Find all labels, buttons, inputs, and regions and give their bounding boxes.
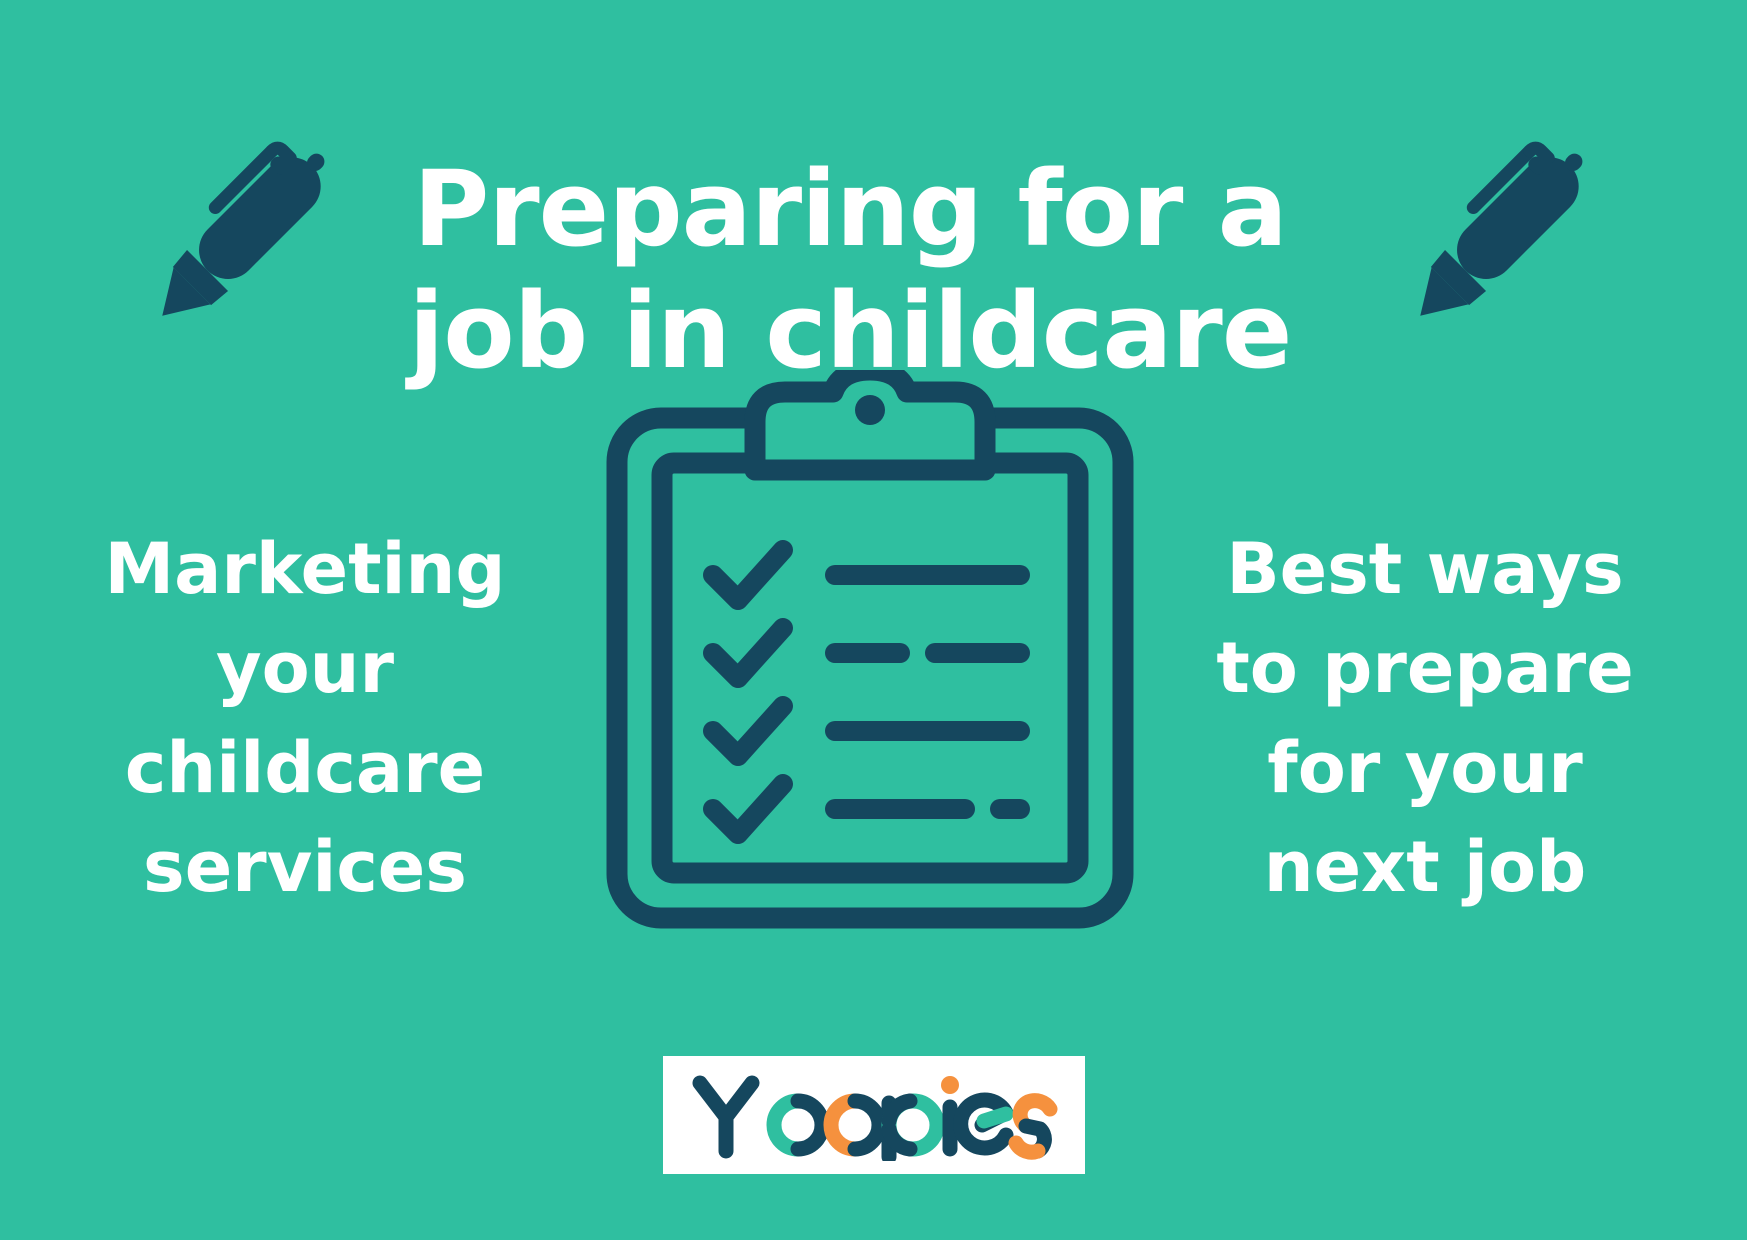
logo-letter-s [1016,1101,1050,1152]
caption-left: Marketing your childcare services [70,520,540,918]
caption-left-line-1: Marketing [70,520,540,619]
check-icon-1 [713,550,783,600]
check-icon-3 [713,706,783,756]
clipboard-clip-hole [855,395,885,425]
clipboard-outer-frame [617,418,1123,918]
caption-right-line-3: for your [1190,719,1660,818]
pen-icon-left [120,108,370,363]
title-line-1: Preparing for a [380,148,1320,271]
clipboard-clip [755,370,985,470]
clipboard-checklist-icon [605,370,1135,935]
caption-left-line-2: your [70,619,540,718]
check-icon-4 [713,784,783,834]
pen-icon-right [1378,108,1628,363]
logo-letter-o-2 [831,1101,879,1149]
poster-canvas: Preparing for a job in childcare Marketi… [0,0,1747,1240]
logo-letter-p [889,1101,937,1157]
yoopies-logo: Yoopies [663,1056,1085,1174]
logo-letter-e [961,1100,1006,1148]
caption-right-line-1: Best ways [1190,520,1660,619]
logo-letter-o-1 [774,1101,822,1149]
caption-right-line-4: next job [1190,818,1660,917]
caption-right-line-2: to prepare [1190,619,1660,718]
check-icon-2 [713,628,783,678]
caption-left-line-4: services [70,818,540,917]
caption-right: Best ways to prepare for your next job [1190,520,1660,918]
logo-letter-Y [700,1083,752,1151]
caption-left-line-3: childcare [70,719,540,818]
page-title: Preparing for a job in childcare [380,148,1320,393]
